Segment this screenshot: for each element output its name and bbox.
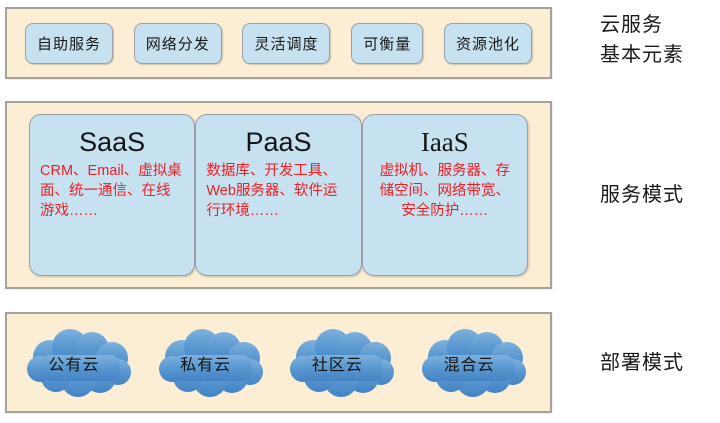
element-chip-network-delivery[interactable]: 网络分发: [134, 23, 222, 64]
cloud-private[interactable]: 私有云: [154, 327, 272, 399]
cloud-public-label: 公有云: [22, 327, 140, 399]
element-chip-resource-pooling[interactable]: 资源池化: [444, 23, 532, 64]
side-label-cloud-elements-line1: 云服务: [600, 10, 720, 40]
service-model-band: SaaS CRM、Email、虚拟桌面、统一通信、在线游戏…… PaaS 数据库…: [5, 101, 552, 289]
cloud-private-label: 私有云: [154, 327, 272, 399]
cloud-community-label: 社区云: [285, 327, 403, 399]
service-card-iaas[interactable]: IaaS 虚拟机、服务器、存储空间、网络带宽、安全防护……: [362, 114, 528, 276]
service-card-saas-title: SaaS: [79, 125, 145, 159]
service-card-iaas-description: 虚拟机、服务器、存储空间、网络带宽、安全防护……: [373, 161, 517, 221]
service-card-saas[interactable]: SaaS CRM、Email、虚拟桌面、统一通信、在线游戏……: [29, 114, 195, 276]
deployment-model-row: 公有云 私有云: [7, 314, 550, 411]
cloud-elements-band: 自助服务 网络分发 灵活调度 可衡量 资源池化: [5, 7, 552, 79]
side-label-service-model: 服务模式: [600, 180, 720, 210]
service-card-paas-title: PaaS: [245, 125, 311, 159]
deployment-model-band: 公有云 私有云: [5, 312, 552, 413]
side-label-service-model-line1: 服务模式: [600, 180, 720, 210]
cloud-community[interactable]: 社区云: [285, 327, 403, 399]
cloud-hybrid-label: 混合云: [417, 327, 535, 399]
cloud-hybrid[interactable]: 混合云: [417, 327, 535, 399]
side-label-cloud-elements-line2: 基本元素: [600, 40, 720, 70]
service-model-row: SaaS CRM、Email、虚拟桌面、统一通信、在线游戏…… PaaS 数据库…: [7, 103, 550, 287]
element-chip-measurable[interactable]: 可衡量: [351, 23, 423, 64]
service-card-saas-description: CRM、Email、虚拟桌面、统一通信、在线游戏……: [40, 161, 184, 221]
service-card-paas[interactable]: PaaS 数据库、开发工具、Web服务器、软件运行环境……: [195, 114, 361, 276]
element-chip-flexible-scheduling[interactable]: 灵活调度: [242, 23, 330, 64]
side-label-deployment-model-line1: 部署模式: [600, 348, 720, 378]
side-label-deployment-model: 部署模式: [600, 348, 720, 378]
cloud-public[interactable]: 公有云: [22, 327, 140, 399]
service-card-paas-description: 数据库、开发工具、Web服务器、软件运行环境……: [206, 161, 350, 221]
service-card-iaas-title: IaaS: [421, 125, 469, 159]
cloud-elements-row: 自助服务 网络分发 灵活调度 可衡量 资源池化: [7, 9, 550, 77]
element-chip-self-service[interactable]: 自助服务: [25, 23, 113, 64]
side-label-cloud-elements: 云服务 基本元素: [600, 10, 720, 70]
